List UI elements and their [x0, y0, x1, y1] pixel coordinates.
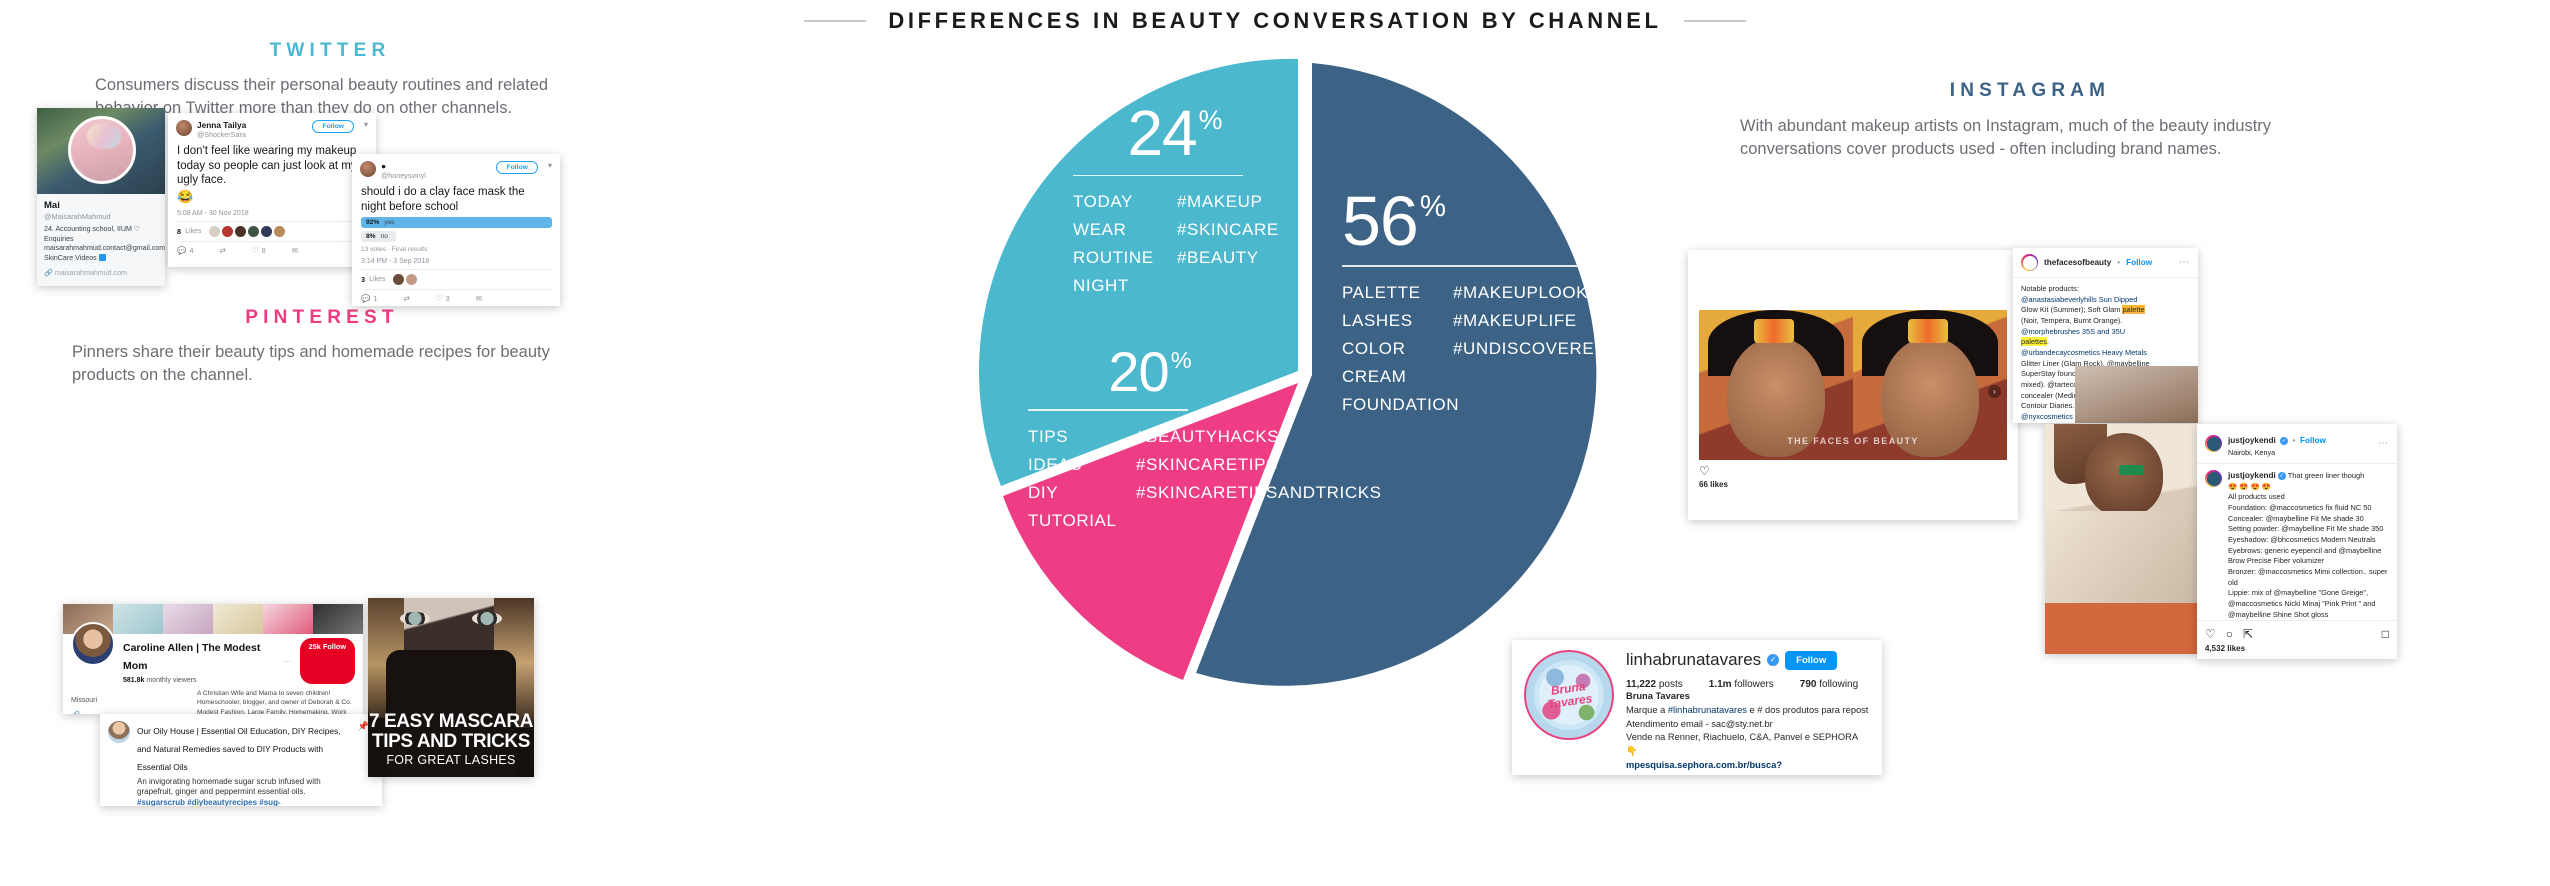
instagram-profile-stats: 11,222 posts 1.1m followers 790 followin…: [1626, 679, 1870, 690]
liker-avatar: [393, 274, 404, 285]
bio-hashtag[interactable]: #linhabrunatavares: [1668, 705, 1747, 715]
verified-badge-icon: ✓: [2280, 437, 2288, 445]
avatar: [2205, 470, 2222, 487]
instagram-post-photo-jay[interactable]: [2045, 424, 2200, 654]
tweet-header: Jenna Tailya @ShockerSara Follow ▾: [168, 113, 376, 141]
pie-keywords-pinterest: TIPS IDEAS DIY TUTORIAL #BEAUTYHACKS #SK…: [988, 425, 1328, 534]
jay-photo: [2045, 424, 2200, 654]
pie-label-twitter: 24 % TODAY WEAR ROUTINE NIGHT #MAKEUP #S…: [1025, 105, 1325, 299]
reply-count: 1: [373, 294, 377, 303]
instagram-description: With abundant makeup artists on Instagra…: [1740, 115, 2320, 162]
avatar: [360, 161, 376, 177]
instagram-post-photo: › THE FACES OF BEAUTY: [1699, 310, 2007, 460]
twitter-profile-card[interactable]: Mai @MaisarahMahmud 24. Accounting schoo…: [37, 108, 165, 286]
pie-chart: 24 % TODAY WEAR ROUTINE NIGHT #MAKEUP #S…: [940, 55, 1700, 695]
profile-bio: 24. Accounting school, IIUM ♡ Enquiries …: [44, 225, 158, 264]
bio-line-1: Marque a #linhabrunatavares e # dos prod…: [1626, 704, 1870, 718]
instagram-caption-header: justjoykendi ✓ • Follow Nairobi, Kenya ⋯: [2197, 424, 2397, 464]
pie-keyword-column-instagram: PALETTE LASHES COLOR CREAM FOUNDATION: [1342, 281, 1437, 418]
profile-website-text: maisarahmahmud.com: [55, 269, 127, 277]
tweet-card-1[interactable]: Jenna Tailya @ShockerSara Follow ▾ I don…: [168, 113, 376, 267]
instagram-profile-card-bruna[interactable]: Bruna Tavares linhabrunatavares ✓ Follow…: [1512, 640, 1882, 775]
avatar: [2021, 254, 2038, 271]
pin-hashtags[interactable]: #sugarscrub #diybeautyrecipes #sug-arscr…: [137, 798, 327, 806]
tweet-author-handle: @ShockerSara: [197, 130, 246, 139]
follower-count: 25k: [309, 642, 321, 651]
profile-handle: @MaisarahMahmud: [44, 212, 158, 221]
like-count: 8: [262, 246, 266, 255]
hashtag: #MAKEUPLIFE: [1453, 309, 1669, 333]
bookmark-icon[interactable]: □: [2382, 627, 2389, 641]
followers-stat[interactable]: 1.1m followers: [1709, 679, 1774, 690]
mascara-pin-line3: FOR GREAT LASHES: [368, 753, 534, 767]
avatar: [108, 721, 130, 743]
caption-line-highlighted: Glow Kit (Summer); Soft Glam palette: [2021, 305, 2190, 316]
board-thumb: [313, 604, 363, 634]
header-rule-left: [804, 20, 866, 22]
pinterest-profile-details: Missouri 🔗 www.themodestmomblog.com A Ch…: [63, 684, 363, 714]
caption-line: Setting powder: @maybelline Fit Me shade…: [2228, 524, 2389, 535]
avatar-figure: [87, 123, 121, 149]
mascara-pin-line2: TIPS AND TRICKS: [368, 732, 534, 751]
instagram-intro: INSTAGRAM With abundant makeup artists o…: [1740, 80, 2320, 162]
pinterest-pin-description: An invigorating homemade sugar scrub inf…: [137, 777, 351, 806]
carousel-next-icon[interactable]: ›: [1988, 385, 2001, 398]
posts-stat: 11,222 posts: [1626, 679, 1683, 690]
pinterest-follow-button[interactable]: 25k Follow: [300, 638, 355, 684]
tweet-card-2[interactable]: ● @honeysvinyl Follow ▾ should i do a cl…: [352, 154, 560, 306]
page-title: DIFFERENCES IN BEAUTY CONVERSATION BY CH…: [888, 8, 1661, 34]
board-thumb: [113, 604, 163, 634]
liker-avatar: [235, 226, 246, 237]
keyword: CREAM: [1342, 365, 1437, 389]
mascara-pin-text: 7 EASY MASCARA TIPS AND TRICKS FOR GREAT…: [368, 712, 534, 767]
instagram-profile-header: linhabrunatavares ✓ Follow: [1626, 650, 1870, 670]
poll-option-1[interactable]: 92% yes: [361, 217, 552, 228]
avatar: [68, 116, 136, 184]
hashtag: #MAKEUPLOOKS: [1453, 281, 1669, 305]
header-rule-right: [1684, 20, 1746, 22]
hashtag: #SKINCARETIPSANDTRICKS: [1136, 481, 1382, 505]
pie-keyword-column-pinterest: TIPS IDEAS DIY TUTORIAL: [1028, 425, 1120, 534]
post-likes: 4,532 likes: [2205, 644, 2389, 653]
keyword: TODAY: [1073, 190, 1161, 214]
follow-button[interactable]: Follow: [1785, 651, 1837, 670]
twitter-intro: TWITTER Consumers discuss their personal…: [95, 40, 565, 121]
eye-right: [472, 612, 502, 625]
caption-emojis: 😍 😍 😍 😍: [2228, 482, 2389, 493]
mascara-pin-line1: 7 EASY MASCARA: [368, 712, 534, 731]
tweet-timestamp: 5:08 AM - 30 Nov 2018: [168, 207, 376, 221]
caption-line: @urbandecaycosmetics Heavy Metals: [2021, 348, 2147, 357]
keyword: TIPS: [1028, 425, 1120, 449]
instagram-profile-details: linhabrunatavares ✓ Follow 11,222 posts …: [1626, 650, 1870, 765]
chevron-down-icon[interactable]: ▾: [364, 120, 368, 129]
instagram-handle[interactable]: linhabrunatavares: [1626, 650, 1761, 670]
head: [2085, 433, 2163, 516]
caption-line: Foundation: @maccosmetics fix fluid NC 5…: [2228, 503, 2389, 514]
instagram-caption-row: justjoykendi ✓ That green liner though 😍…: [2197, 464, 2397, 620]
profile-name: Mai: [44, 200, 158, 211]
tweet-author-handle: @honeysvinyl: [381, 171, 426, 180]
highlight-palette: palette: [2122, 305, 2144, 314]
likes-count: 8: [177, 227, 181, 236]
pinterest-profile-header: Caroline Allen | The Modest Mom 581.8k m…: [63, 634, 363, 684]
instagram-handle[interactable]: thefacesofbeauty: [2044, 258, 2111, 267]
share-action[interactable]: ✉: [292, 246, 298, 255]
following-count: 790: [1800, 679, 1817, 690]
profile-cover-photo: [37, 108, 165, 194]
infographic-canvas: DIFFERENCES IN BEAUTY CONVERSATION BY CH…: [0, 0, 2550, 886]
tweet-text: I don't feel like wearing my makeup toda…: [168, 141, 376, 188]
separator-dot: •: [2117, 258, 2120, 267]
avatar-inner: [2023, 256, 2037, 270]
pinterest-mascara-pin[interactable]: 7 EASY MASCARA TIPS AND TRICKS FOR GREAT…: [368, 598, 534, 777]
pie-hashtag-column-instagram: #MAKEUPLOOKS #MAKEUPLIFE #UNDISCOVERED_M…: [1453, 281, 1669, 418]
pinterest-pin-saver: Our Oily House | Essential Oil Education…: [137, 726, 341, 772]
liker-avatar: [406, 274, 417, 285]
caption-line: Bronzer: @maccosmetics Mimi collection..…: [2228, 567, 2389, 588]
poll-option-2-label: no: [381, 233, 388, 240]
tweet-emoji: 😂: [168, 188, 376, 207]
keyword: NIGHT: [1073, 274, 1161, 298]
pin-saved-to: saved to: [220, 744, 256, 754]
hashtag: #SKINCARETIPS: [1136, 453, 1382, 477]
instagram-identity: justjoykendi ✓ • Follow Nairobi, Kenya: [2228, 430, 2326, 457]
reply-action[interactable]: 💬 1: [361, 294, 378, 303]
action-icons: ♡ ○ ⇱ □: [2205, 627, 2389, 641]
profile-website-link[interactable]: 🔗 maisarahmahmud.com: [44, 268, 158, 277]
pinterest-profile-name: Caroline Allen | The Modest Mom: [123, 642, 260, 672]
pie-value-twitter-number: 24: [1127, 105, 1196, 163]
reply-count: 4: [189, 246, 193, 255]
keyword: PALETTE: [1342, 281, 1437, 305]
pie-hashtag-column-twitter: #MAKEUP #SKINCARE #BEAUTY: [1177, 190, 1325, 299]
avatar: [2205, 435, 2222, 452]
pinterest-monthly-viewers: 581.8k monthly viewers: [123, 677, 275, 684]
liker-avatar: [248, 226, 259, 237]
profile-display-name: Bruna Tavares: [1626, 690, 1870, 704]
instagram-caption-card-jay[interactable]: justjoykendi ✓ • Follow Nairobi, Kenya ⋯…: [2197, 424, 2397, 659]
pinterest-heading: PINTEREST: [72, 307, 572, 329]
pinterest-profile-identity: Caroline Allen | The Modest Mom 581.8k m…: [123, 638, 275, 684]
profile-bio-line2: maisarahmahmud.contact@gmail.com: [44, 244, 165, 252]
liker-avatars: [393, 274, 417, 285]
liker-avatar: [209, 226, 220, 237]
follow-button[interactable]: Follow: [2126, 258, 2152, 267]
page-header: DIFFERENCES IN BEAUTY CONVERSATION BY CH…: [0, 8, 2550, 34]
poll-option-1-pct: 92%: [366, 219, 379, 226]
bio-line1-post: e # dos produtos para repost: [1747, 705, 1868, 715]
pie-value-pinterest-number: 20: [1108, 347, 1168, 397]
keyword: FOUNDATION: [1342, 393, 1437, 417]
posts-label: posts: [1659, 679, 1683, 690]
monthly-viewers-count: 581.8k: [123, 677, 144, 684]
heart-icon[interactable]: ♡: [2205, 627, 2216, 641]
board-thumb: [263, 604, 313, 634]
pinterest-pin-content: Our Oily House | Essential Oil Education…: [137, 721, 351, 799]
caption-handle[interactable]: justjoykendi: [2228, 471, 2276, 480]
tweet-author: ● @honeysvinyl: [381, 161, 426, 180]
poll-option-2[interactable]: 8% no: [361, 231, 396, 242]
avatar: [71, 622, 115, 666]
headpiece: [1754, 319, 1794, 343]
profile-bio-line3: SkinCare Videos: [44, 254, 97, 262]
pinterest-profile-meta: Missouri 🔗 www.themodestmomblog.com: [71, 689, 183, 714]
pinterest-profile-description: A Christian Wife and Mama to seven child…: [197, 689, 355, 714]
comment-icon[interactable]: ○: [2226, 627, 2233, 641]
instagram-caption-card[interactable]: thefacesofbeauty • Follow ⋯ Notable prod…: [2013, 248, 2198, 423]
eyes: [400, 612, 502, 632]
overflow-menu-icon[interactable]: ⋯: [2378, 438, 2389, 449]
caption-line: Concealer: @maybelline Fit Me shade 30: [2228, 514, 2389, 525]
tweet-author-name: ●: [381, 161, 386, 171]
instagram-heading: INSTAGRAM: [1740, 80, 2320, 102]
instagram-caption-text: justjoykendi ✓ That green liner though 😍…: [2228, 470, 2389, 620]
hashtag: #BEAUTYHACKS: [1136, 425, 1382, 449]
overflow-menu-icon[interactable]: ⋯: [2179, 257, 2190, 268]
pinterest-location: Missouri: [71, 697, 97, 704]
liker-avatar: [222, 226, 233, 237]
liker-avatars: [209, 226, 285, 237]
tweet-likes-row: 8 Likes: [168, 222, 376, 241]
tweet-author: Jenna Tailya @ShockerSara: [197, 120, 246, 139]
poll-option-2-pct: 8%: [366, 233, 376, 240]
video-badge-icon: [99, 254, 106, 261]
monthly-viewers-label: monthly viewers: [146, 677, 196, 684]
tweet-text: should i do a clay face mask the night b…: [352, 182, 560, 214]
pinterest-description: Pinners share their beauty tips and home…: [72, 341, 572, 388]
heart-icon[interactable]: ♡: [1699, 464, 1710, 478]
instagram-location: Nairobi, Kenya: [2228, 448, 2326, 457]
instagram-post-actions: ♡ ○ ⇱ □ 4,532 likes: [2197, 620, 2397, 659]
post-likes: 66 likes: [1699, 480, 1728, 489]
eye-left: [400, 612, 430, 625]
bio-url[interactable]: mpesquisa.sephora.com.br/busca?q=bruna+t…: [1626, 759, 1870, 775]
headpiece: [1908, 319, 1948, 343]
pie-value-pinterest-symbol: %: [1171, 350, 1192, 371]
mascara-pin-photo: 7 EASY MASCARA TIPS AND TRICKS FOR GREAT…: [368, 598, 534, 777]
hashtag: #SKINCARE: [1177, 218, 1325, 242]
keyword: DIY: [1028, 481, 1120, 505]
green-eyeliner: [2119, 465, 2144, 474]
reply-action[interactable]: 💬 4: [177, 246, 194, 255]
caption-line-highlighted: palettes.: [2021, 337, 2190, 348]
photo-watermark: THE FACES OF BEAUTY: [1699, 436, 2007, 446]
keyword: IDEAS: [1028, 453, 1120, 477]
followers-label: followers: [1734, 679, 1773, 690]
verified-badge-icon: ✓: [1767, 654, 1779, 666]
pinterest-intro: PINTEREST Pinners share their beauty tip…: [72, 307, 572, 388]
retweet-action[interactable]: ⇄: [404, 294, 410, 303]
twitter-heading: TWITTER: [95, 40, 565, 62]
caption-line: Lippie: mix of @maybelline "Gone Greige"…: [2228, 588, 2389, 620]
like-action[interactable]: ♡ 3: [436, 294, 450, 303]
bio-line-3: Vende na Renner, Riachuelo, C&A, Panvel …: [1626, 731, 1870, 759]
profile-body: Mai @MaisarahMahmud 24. Accounting schoo…: [37, 194, 165, 286]
pie-value-pinterest: 20 %: [988, 347, 1328, 397]
follow-button[interactable]: Follow: [2300, 436, 2326, 445]
highlight-palettes: palettes: [2021, 337, 2047, 346]
caption-line: Eyeshadow: @bhcosmetics Modern Neutrals: [2228, 535, 2389, 546]
instagram-post-footer: ♡ 66 likes: [1699, 464, 1728, 489]
instagram-profile-bio: Bruna Tavares Marque a #linhabrunatavare…: [1626, 690, 1870, 775]
pinterest-profile-card[interactable]: Caroline Allen | The Modest Mom 581.8k m…: [63, 604, 363, 714]
hashtag: #MAKEUP: [1177, 190, 1325, 214]
pie-divider-pinterest: [1028, 409, 1188, 411]
avatar-inner: [2207, 472, 2221, 486]
likes-count: 3: [361, 275, 365, 284]
like-count: 3: [446, 294, 450, 303]
caption-line: Brow Precise Fiber volumizer: [2228, 556, 2389, 567]
following-label: following: [1819, 679, 1858, 690]
likes-label: Likes: [369, 276, 385, 283]
keyword: ROUTINE: [1073, 246, 1161, 270]
chevron-down-icon[interactable]: ▾: [548, 161, 552, 170]
keyword: LASHES: [1342, 309, 1437, 333]
caption-line: @anastasiabeverlyhills Sun Dipped: [2021, 295, 2137, 304]
pie-value-instagram-number: 56: [1342, 190, 1418, 253]
following-stat[interactable]: 790 following: [1800, 679, 1858, 690]
share-action[interactable]: ✉: [476, 294, 482, 303]
likes-label: Likes: [185, 228, 201, 235]
hashtag: #UNDISCOVERED_MUAS: [1453, 337, 1669, 361]
caption-intro: Notable products:: [2021, 284, 2190, 295]
bio-line1-pre: Marque a: [1626, 705, 1668, 715]
pie-label-pinterest: 20 % TIPS IDEAS DIY TUTORIAL #BEAUTYHACK…: [988, 347, 1328, 533]
bio-line-2: Atendimento email - sac@sty.net.br: [1626, 718, 1870, 732]
follow-label: Follow: [323, 642, 346, 651]
pie-hashtag-column-pinterest: #BEAUTYHACKS #SKINCARETIPS #SKINCARETIPS…: [1136, 425, 1382, 534]
pie-keywords-twitter: TODAY WEAR ROUTINE NIGHT #MAKEUP #SKINCA…: [1025, 190, 1325, 299]
pie-label-instagram: 56 % PALETTE LASHES COLOR CREAM FOUNDATI…: [1338, 190, 1668, 417]
like-action[interactable]: ♡ 8: [252, 246, 266, 255]
overflow-menu-icon[interactable]: ⋯: [283, 656, 292, 667]
tweet-timestamp: 3:14 PM - 3 Sep 2018: [352, 255, 560, 269]
hashtag: #BEAUTY: [1177, 246, 1325, 270]
caption-line: All products used: [2228, 492, 2389, 503]
poll-option-1-label: yes: [384, 219, 394, 226]
instagram-caption-header: thefacesofbeauty • Follow ⋯: [2013, 248, 2198, 278]
keyword: COLOR: [1342, 337, 1437, 361]
pin-description-text: An invigorating homemade sugar scrub inf…: [137, 777, 321, 796]
board-thumb: [163, 604, 213, 634]
overlapping-photo: [2075, 366, 2198, 423]
avatar: Bruna Tavares: [1524, 650, 1614, 740]
pie-value-twitter: 24 %: [1025, 105, 1325, 163]
instagram-post-faces[interactable]: › THE FACES OF BEAUTY ♡ 66 likes: [1688, 250, 2018, 520]
tweet-header: ● @honeysvinyl Follow ▾: [352, 154, 560, 182]
tweet-author-name: Jenna Tailya: [197, 120, 246, 130]
followers-count: 1.1m: [1709, 679, 1732, 690]
pie-divider-twitter: [1073, 175, 1243, 177]
avatar-inner: [2207, 437, 2221, 451]
verified-badge-icon: ✓: [2278, 472, 2286, 480]
pie-keywords-instagram: PALETTE LASHES COLOR CREAM FOUNDATION #M…: [1338, 281, 1668, 418]
follow-button[interactable]: Follow: [496, 161, 538, 174]
caption-line: (Noir, Tempera, Burnt Orange).: [2021, 316, 2190, 327]
posts-count: 11,222: [1626, 679, 1656, 690]
tweet-likes-row: 3 Likes: [352, 270, 560, 289]
caption-line: @morphebrushes 35S and 35U: [2021, 327, 2125, 336]
pie-value-instagram-symbol: %: [1420, 194, 1446, 220]
profile-bio-line1: 24. Accounting school, IIUM ♡ Enquiries: [44, 225, 140, 243]
pie-keyword-column-twitter: TODAY WEAR ROUTINE NIGHT: [1073, 190, 1161, 299]
share-icon[interactable]: ⇱: [2243, 627, 2253, 641]
tweet-actions: 💬 1 ⇄ ♡ 3 ✉: [352, 290, 560, 306]
pie-divider-instagram: [1342, 265, 1590, 267]
board-thumb: [213, 604, 263, 634]
pie-value-twitter-symbol: %: [1199, 108, 1223, 132]
tweet-actions: 💬 4 ⇄ ♡ 8 ✉: [168, 242, 376, 261]
trench-coat: [2045, 511, 2200, 603]
retweet-action[interactable]: ⇄: [220, 246, 226, 255]
instagram-handle[interactable]: justjoykendi: [2228, 436, 2276, 445]
avatar: [176, 120, 192, 136]
pinterest-pin-card[interactable]: Our Oily House | Essential Oil Education…: [100, 714, 382, 806]
caption-line: Eyebrows: generic eyepencil and @maybell…: [2228, 546, 2389, 557]
separator-dot: •: [2293, 436, 2296, 445]
poll-votes: 13 votes · Final results: [352, 242, 560, 255]
follow-button[interactable]: Follow: [312, 120, 354, 133]
caption-opening: That green liner though: [2288, 471, 2364, 480]
pie-value-instagram: 56 %: [1338, 190, 1668, 253]
keyword: WEAR: [1073, 218, 1161, 242]
liker-avatar: [274, 226, 285, 237]
keyword: TUTORIAL: [1028, 509, 1120, 533]
liker-avatar: [261, 226, 272, 237]
